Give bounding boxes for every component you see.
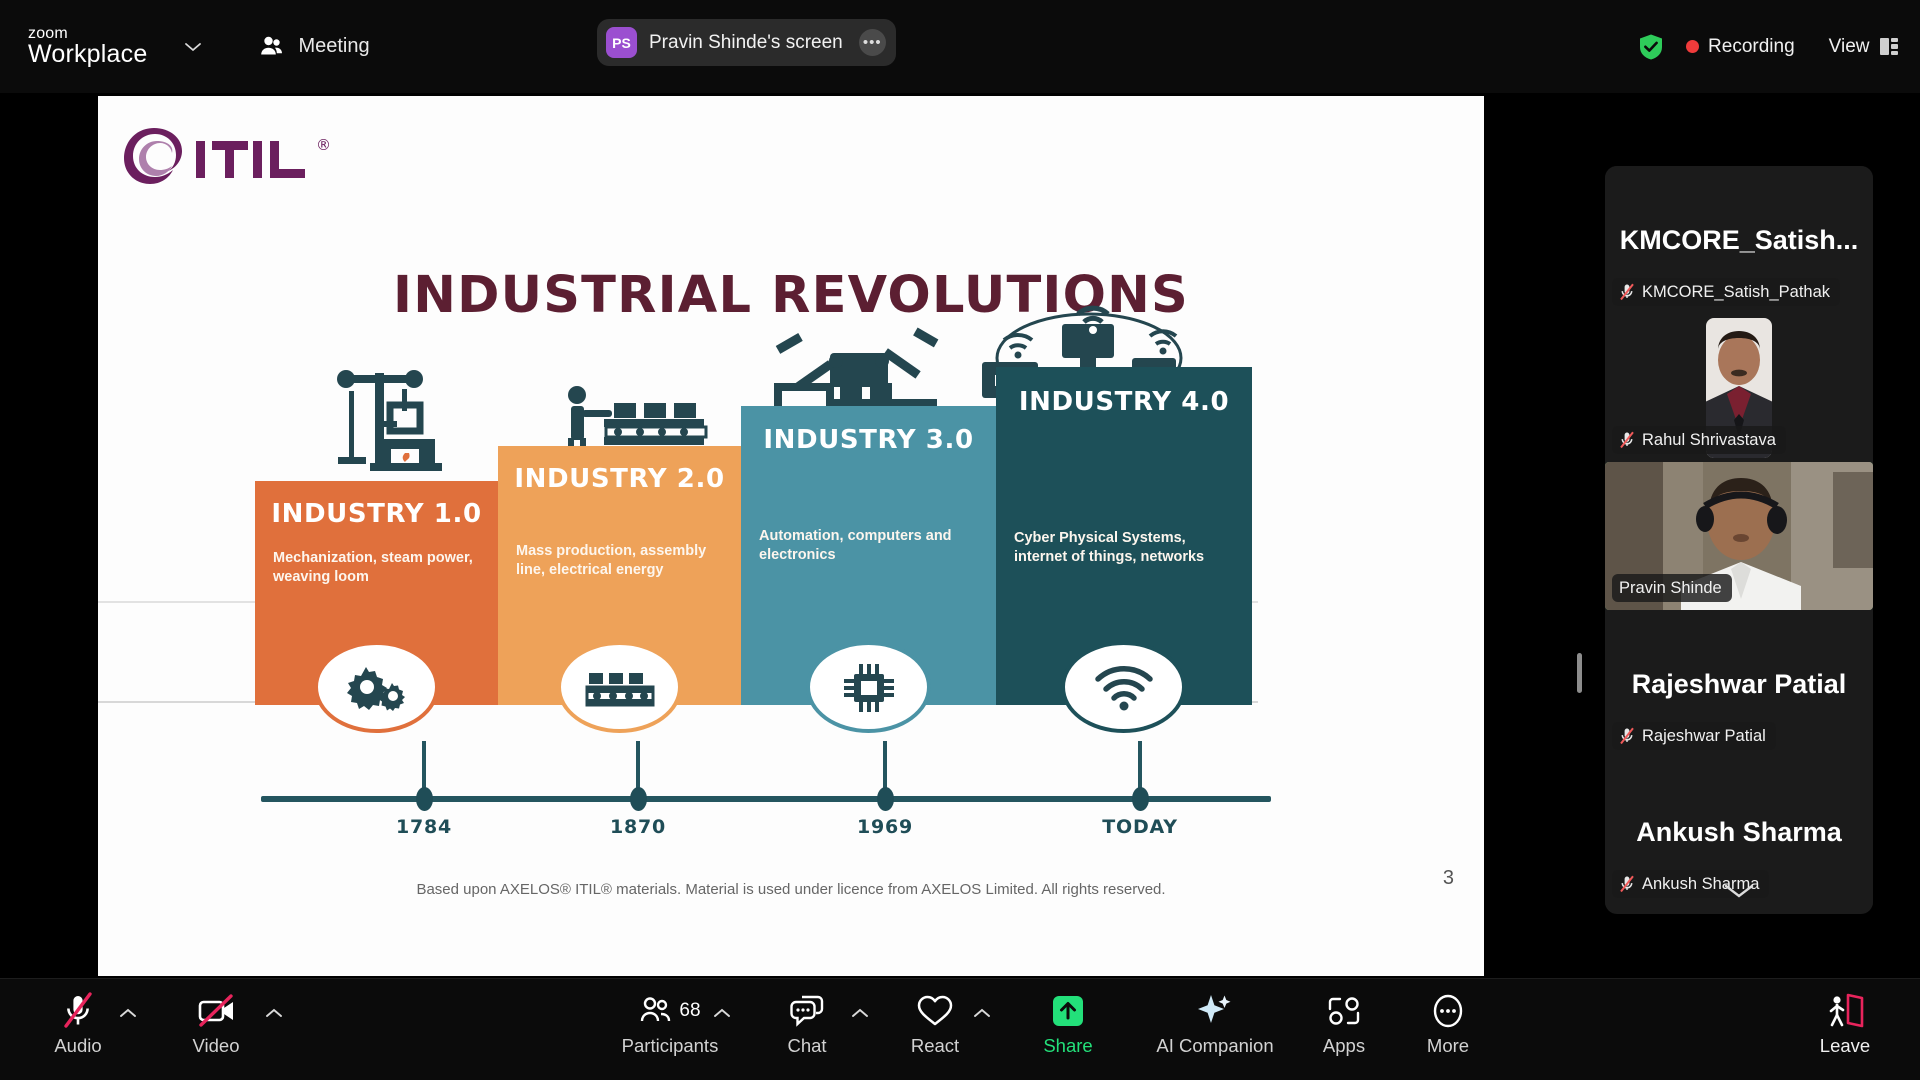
participant-chip-name: Rajeshwar Patial [1642, 727, 1766, 746]
bar-description: Cyber Physical Systems, internet of thin… [996, 529, 1252, 566]
share-arrow-up-icon [1048, 989, 1088, 1033]
recording-dot-icon [1686, 40, 1699, 53]
ai-companion-label: AI Companion [1156, 1035, 1273, 1057]
video-button[interactable]: Video [168, 989, 264, 1073]
timeline-node [1132, 787, 1149, 811]
chat-bubble-icon [788, 989, 826, 1033]
share-label: Share [1043, 1035, 1092, 1057]
video-off-icon [195, 989, 237, 1033]
leave-button[interactable]: Leave [1797, 989, 1893, 1073]
ellipsis-icon[interactable]: ••• [859, 29, 886, 56]
participant-name-chip: Rajeshwar Patial [1612, 722, 1776, 750]
share-button[interactable]: Share [1020, 989, 1116, 1073]
layout-icon [1880, 38, 1899, 55]
circle-icon-industry-3 [806, 641, 931, 733]
bar-title: INDUSTRY 4.0 [996, 387, 1252, 417]
top-bar: zoom Workplace Meeting PS Pravin Shinde'… [0, 0, 1920, 93]
participants-label: Participants [622, 1035, 719, 1057]
view-button[interactable]: View [1829, 36, 1898, 58]
mic-off-icon [1619, 875, 1635, 893]
leave-label: Leave [1820, 1035, 1870, 1057]
participant-tile[interactable]: KMCORE_Satish... KMCORE_Satish_Pathak [1605, 166, 1873, 314]
participant-gallery-list[interactable]: KMCORE_Satish... KMCORE_Satish_Pathak [1605, 166, 1873, 914]
participant-tile-active-speaker[interactable]: Pravin Shinde [1605, 462, 1873, 610]
chevron-down-icon[interactable] [183, 41, 203, 53]
leave-door-icon [1824, 989, 1866, 1033]
gears-icon [346, 663, 408, 711]
bar-description: Mechanization, steam power, weaving loom [255, 549, 498, 586]
zoom-workplace-brand: zoom Workplace [28, 26, 147, 68]
more-button[interactable]: More [1400, 989, 1496, 1073]
audio-options-chevron-up-icon[interactable] [118, 1007, 138, 1019]
recording-indicator[interactable]: Recording [1686, 36, 1795, 58]
brand-workplace-label: Workplace [28, 42, 147, 68]
screen-share-banner[interactable]: PS Pravin Shinde's screen ••• [597, 19, 896, 66]
recording-label: Recording [1708, 36, 1795, 58]
bar-description: Automation, computers and electronics [741, 527, 996, 564]
bar-description: Mass production, assembly line, electric… [498, 542, 741, 579]
timeline-node [630, 787, 647, 811]
timeline-axis [261, 796, 1271, 802]
more-label: More [1427, 1035, 1469, 1057]
meeting-toolbar: Audio Video 68 Participants [0, 978, 1920, 1080]
heart-icon [916, 989, 954, 1033]
svg-text:®: ® [316, 136, 331, 154]
top-bar-right-group: Recording View [1638, 0, 1898, 93]
panel-drag-handle[interactable] [1577, 653, 1582, 693]
meeting-tab[interactable]: Meeting [258, 35, 369, 59]
participants-count: 68 [679, 1000, 700, 1022]
react-label: React [911, 1035, 959, 1057]
ellipsis-circle-icon [1430, 989, 1466, 1033]
shield-check-icon[interactable] [1638, 33, 1664, 61]
bar-title: INDUSTRY 3.0 [741, 425, 996, 455]
timeline-year: 1969 [825, 816, 945, 838]
meeting-label: Meeting [298, 35, 369, 58]
conveyor-belt-icon [585, 665, 655, 709]
audio-button[interactable]: Audio [30, 989, 126, 1073]
timeline-node [416, 787, 433, 811]
circle-icon-industry-4 [1061, 641, 1186, 733]
participant-gallery: KMCORE_Satish... KMCORE_Satish_Pathak [1605, 93, 1920, 978]
itil-logo: ® [120, 124, 350, 188]
participant-chip-name: Pravin Shinde [1619, 579, 1722, 598]
participants-options-chevron-up-icon[interactable] [712, 1007, 732, 1019]
circle-icon-industry-2 [557, 641, 682, 733]
wifi-icon [1092, 663, 1156, 711]
timeline-node [877, 787, 894, 811]
participants-button[interactable]: 68 Participants [595, 989, 745, 1073]
chat-label: Chat [787, 1035, 826, 1057]
video-label: Video [193, 1035, 240, 1057]
apps-icon [1325, 989, 1363, 1033]
participant-name-chip: Pravin Shinde [1612, 574, 1732, 602]
bar-title: INDUSTRY 2.0 [498, 464, 741, 494]
participant-name-chip: KMCORE_Satish_Pathak [1612, 278, 1840, 306]
timeline-year: 1870 [578, 816, 698, 838]
chevron-down-icon[interactable] [1722, 882, 1756, 900]
industrial-revolutions-chart: ERP INDUSTRY 1.0 Mechanization, steam po… [98, 311, 1484, 841]
participant-tile[interactable]: Rajeshwar Patial Rajeshwar Patial [1605, 610, 1873, 758]
timeline-year: 1784 [364, 816, 484, 838]
participant-chip-name: KMCORE_Satish_Pathak [1642, 283, 1830, 302]
chat-options-chevron-up-icon[interactable] [850, 1007, 870, 1019]
presentation-slide[interactable]: ® INDUSTRIAL REVOLUTIONS [98, 96, 1484, 976]
circle-icon-industry-1 [314, 641, 439, 733]
apps-button[interactable]: Apps [1296, 989, 1392, 1073]
people-icon: 68 [639, 989, 700, 1033]
view-label: View [1829, 36, 1870, 58]
mic-off-icon [1619, 727, 1635, 745]
participant-name-chip: Rahul Shrivastava [1612, 426, 1786, 454]
microchip-icon [841, 661, 897, 713]
mic-off-icon [1619, 283, 1635, 301]
slide-page-number: 3 [1443, 867, 1454, 890]
steam-engine-icon [320, 369, 450, 481]
slide-attribution-footer: Based upon AXELOS® ITIL® materials. Mate… [98, 881, 1484, 898]
apps-label: Apps [1323, 1035, 1365, 1057]
participant-tile[interactable]: Rahul Shrivastava [1605, 314, 1873, 462]
audio-label: Audio [54, 1035, 101, 1057]
timeline-year: TODAY [1080, 816, 1200, 838]
react-button[interactable]: React [887, 989, 983, 1073]
sparkle-icon [1195, 989, 1235, 1033]
participant-chip-name: Rahul Shrivastava [1642, 431, 1776, 450]
mic-off-icon [1619, 431, 1635, 449]
shared-screen-stage: ® INDUSTRIAL REVOLUTIONS [0, 93, 1605, 978]
bar-title: INDUSTRY 1.0 [255, 499, 498, 529]
ai-companion-button[interactable]: AI Companion [1130, 989, 1300, 1073]
mic-off-icon [59, 989, 97, 1033]
react-options-chevron-up-icon[interactable] [972, 1007, 992, 1019]
video-options-chevron-up-icon[interactable] [264, 1007, 284, 1019]
share-banner-title: Pravin Shinde's screen [649, 32, 843, 54]
avatar: PS [606, 27, 637, 58]
chat-button[interactable]: Chat [759, 989, 855, 1073]
people-icon [258, 35, 286, 59]
